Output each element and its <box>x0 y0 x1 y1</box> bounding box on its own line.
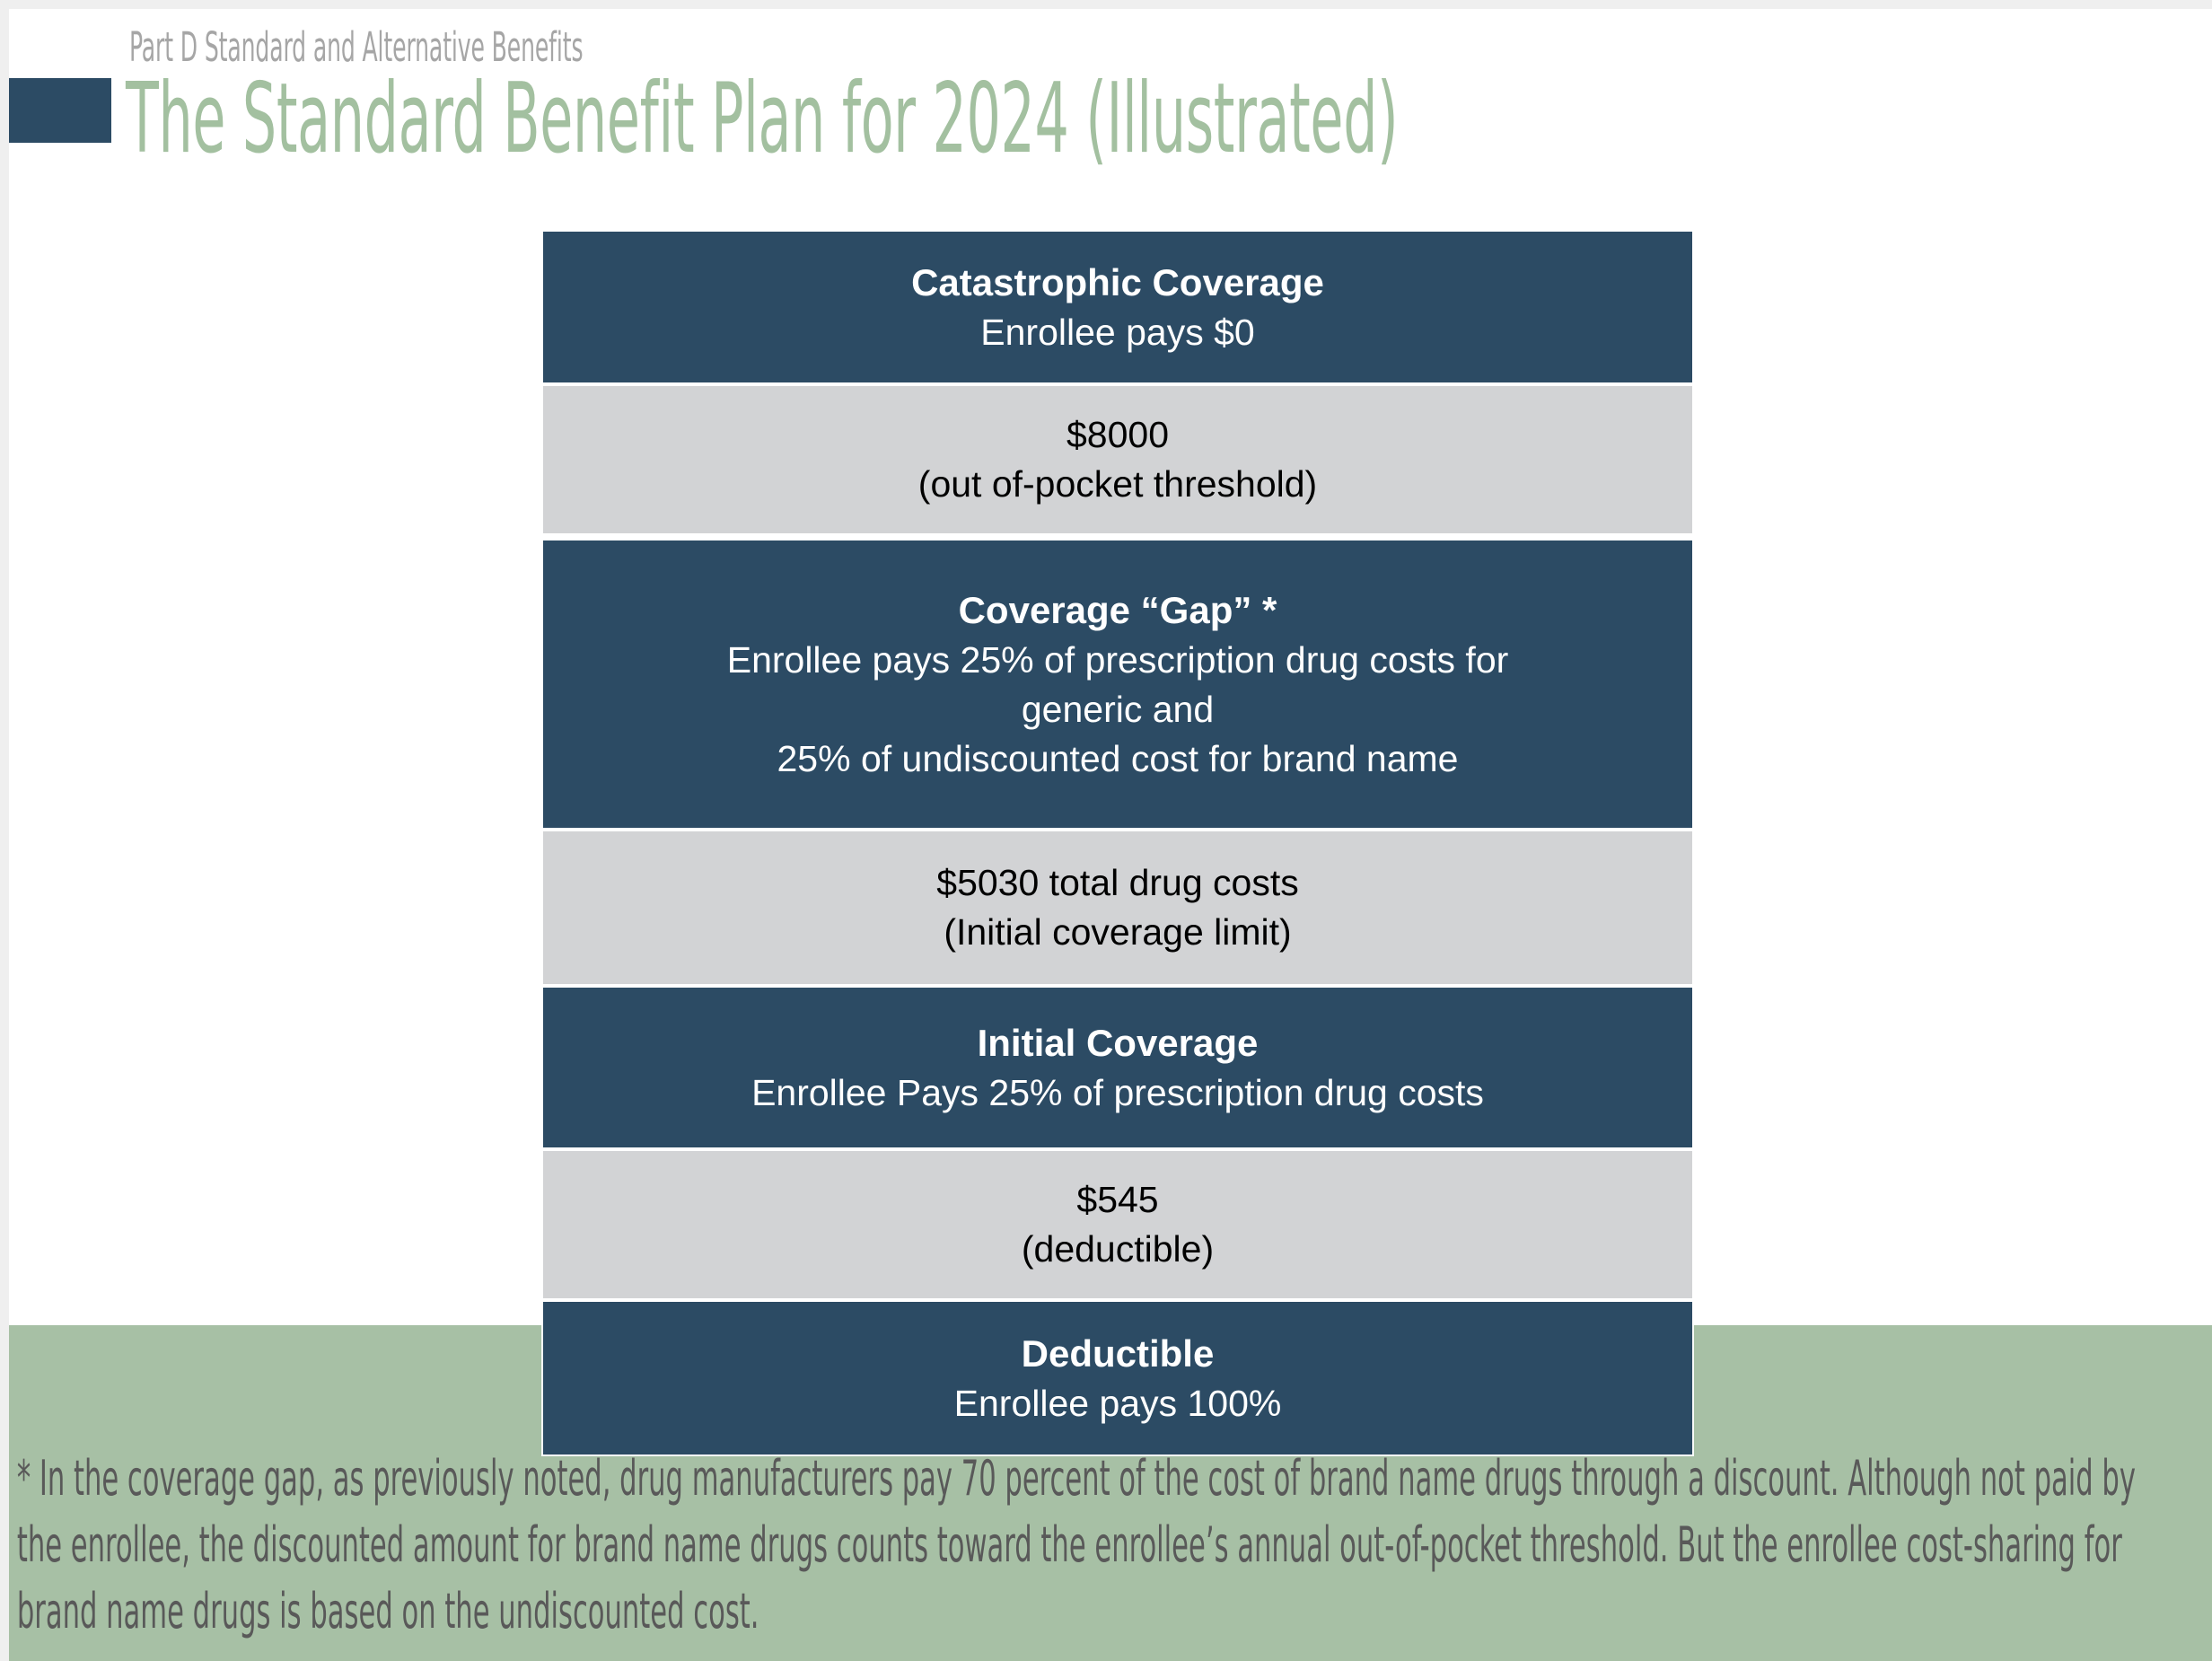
page-title: The Standard Benefit Plan for 2024 (Illu… <box>126 65 1398 174</box>
tier-catastrophic-coverage: Catastrophic CoverageEnrollee pays $0 <box>543 232 1692 382</box>
tier-line: $5030 total drug costs <box>936 858 1298 908</box>
tier-line: Enrollee pays 25% of prescription drug c… <box>727 636 1509 685</box>
tier-line: (deductible) <box>1022 1225 1214 1274</box>
footnote-text: * In the coverage gap, as previously not… <box>9 1446 2192 1645</box>
tier-title: Initial Coverage <box>978 1018 1259 1068</box>
tier-out-of-pocket-threshold: $8000(out of-pocket threshold) <box>543 386 1692 533</box>
tier-deductible: DeductibleEnrollee pays 100% <box>543 1302 1692 1454</box>
tier-line: Enrollee pays 100% <box>954 1379 1282 1428</box>
slide-canvas: Part D Standard and Alternative Benefits… <box>9 9 2212 1661</box>
tier-title: Catastrophic Coverage <box>911 258 1324 308</box>
accent-square-icon <box>9 78 111 143</box>
tier-deductible-amount: $545(deductible) <box>543 1151 1692 1298</box>
tier-title: Deductible <box>1022 1329 1215 1379</box>
tier-line: 25% of undiscounted cost for brand name <box>777 734 1459 784</box>
tier-initial-coverage-limit: $5030 total drug costs(Initial coverage … <box>543 831 1692 984</box>
slide-root: Part D Standard and Alternative Benefits… <box>0 0 2212 1661</box>
tier-line: Enrollee Pays 25% of prescription drug c… <box>751 1068 1484 1118</box>
tier-line: (Initial coverage limit) <box>944 908 1291 957</box>
tier-line: generic and <box>1022 685 1214 734</box>
tier-initial-coverage: Initial CoverageEnrollee Pays 25% of pre… <box>543 988 1692 1147</box>
tier-line: (out of-pocket threshold) <box>918 460 1317 509</box>
tier-line: $8000 <box>1066 410 1169 460</box>
tier-title: Coverage “Gap” * <box>959 585 1277 636</box>
tier-line: $545 <box>1076 1175 1158 1225</box>
tier-coverage-gap: Coverage “Gap” *Enrollee pays 25% of pre… <box>543 540 1692 828</box>
tier-line: Enrollee pays $0 <box>980 308 1254 357</box>
